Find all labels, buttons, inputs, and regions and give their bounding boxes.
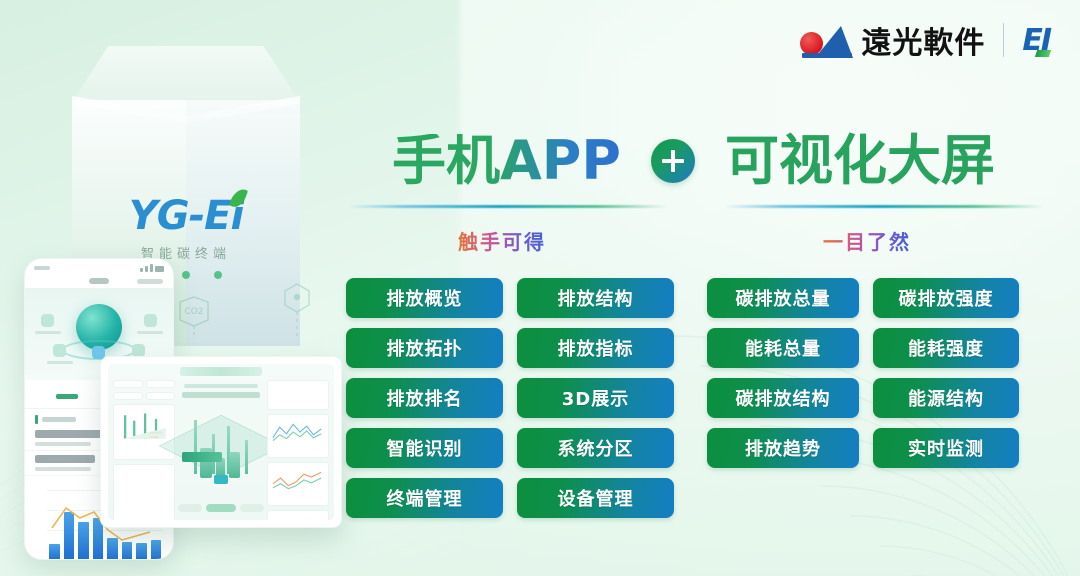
row-2-caption	[35, 467, 91, 471]
wind-turbine-4	[245, 440, 248, 474]
app-feature-button-1[interactable]: 排放概览	[346, 278, 503, 318]
right-kpi-card	[267, 380, 329, 410]
app-feature-button-9[interactable]: 终端管理	[346, 478, 503, 518]
row-1-values	[35, 430, 107, 446]
battery-icon	[155, 266, 164, 272]
status-time	[34, 266, 50, 270]
bar-chart-3	[271, 514, 325, 520]
ygei-logo: YG-Ei	[129, 196, 243, 236]
dot-2	[182, 271, 190, 279]
plus-icon	[651, 139, 695, 183]
dashboard-screen	[108, 364, 334, 520]
screen-feature-button-5[interactable]: 碳排放结构	[707, 378, 859, 418]
location-hex-pin-icon	[282, 282, 312, 342]
isometric-city-graphic	[178, 408, 264, 500]
screen-feature-button-2[interactable]: 碳排放强度	[873, 278, 1019, 318]
app-feature-button-3[interactable]: 排放拓扑	[346, 328, 503, 368]
dashboard-title-bar	[180, 367, 262, 376]
bar-comparison-card	[113, 404, 175, 460]
signal-bar-2	[145, 266, 148, 272]
screen-feature-grid: 碳排放总量碳排放强度能耗总量能耗强度碳排放结构能源结构排放趋势实时监测	[707, 278, 1019, 468]
screen-feature-button-4[interactable]: 能耗强度	[873, 328, 1019, 368]
section-pip	[35, 415, 38, 424]
yuanguang-logo: 遠光軟件	[799, 18, 985, 62]
row-2-values	[35, 455, 95, 471]
row-1-number	[35, 430, 107, 438]
headline-right: 可视化大屏	[725, 134, 995, 188]
app-feature-button-6[interactable]: 3D展示	[517, 378, 674, 418]
slide-canvas: YG-Ei 智能碳终端 CO2	[0, 0, 1080, 576]
kpi-card-1	[113, 380, 143, 388]
tablet-mockup	[100, 356, 342, 528]
row-2-number	[35, 455, 95, 463]
center-metric-label-2	[214, 384, 258, 388]
highlight-block	[214, 475, 228, 484]
hero-icon-2[interactable]	[144, 314, 157, 327]
app-feature-button-7[interactable]: 智能识别	[346, 428, 503, 468]
hero-icon-1[interactable]	[41, 314, 54, 327]
donut-card	[113, 464, 175, 520]
phone-nav-title	[89, 278, 109, 284]
phone-nav-bar	[25, 272, 173, 288]
scene-info-tag	[182, 452, 222, 462]
app-feature-button-8[interactable]: 系统分区	[517, 428, 674, 468]
right-kpi-2	[300, 384, 326, 386]
wind-turbine-1	[194, 420, 197, 474]
right-kpi-row	[271, 384, 325, 386]
headline-row: 手机APP 可视化大屏	[392, 122, 1032, 200]
status-signal-icons	[140, 264, 164, 272]
line-chart-card-2	[267, 462, 329, 506]
line-chart-2	[271, 466, 325, 492]
scene-tab-1[interactable]	[178, 504, 202, 512]
row-1-caption	[35, 442, 91, 446]
hero-label-3	[47, 361, 73, 364]
yuanguang-mark-icon	[799, 22, 853, 58]
app-feature-button-2[interactable]: 排放结构	[517, 278, 674, 318]
app-feature-button-4[interactable]: 排放指标	[517, 328, 674, 368]
logo-base-bar	[802, 53, 852, 58]
svg-text:CO2: CO2	[184, 307, 203, 317]
right-kpi-1	[271, 384, 297, 386]
center-metric-value-2	[212, 392, 260, 398]
headline-left: 手机APP	[392, 134, 621, 188]
dot-3	[214, 271, 222, 279]
ei-logo: EI	[1022, 23, 1050, 58]
phone-tab-1[interactable]	[35, 386, 99, 404]
screen-feature-button-3[interactable]: 能耗总量	[707, 328, 859, 368]
screen-feature-button-7[interactable]: 排放趋势	[707, 428, 859, 468]
cube-face-top	[72, 46, 300, 102]
divider-left	[348, 205, 668, 208]
line-chart-1	[271, 418, 325, 444]
screen-feature-button-1[interactable]: 碳排放总量	[707, 278, 859, 318]
scene-tab-switcher[interactable]	[178, 504, 264, 512]
dashboard-center-scene	[178, 380, 264, 514]
phone-status-bar	[25, 259, 173, 272]
bar-comparison-chart	[117, 408, 171, 448]
hero-label-2	[137, 331, 163, 334]
phone-nav-action[interactable]	[137, 279, 163, 284]
divider-right	[724, 205, 1044, 208]
brand-divider	[1003, 23, 1004, 57]
tab-1-indicator	[56, 394, 78, 399]
bar-chart-card	[267, 510, 329, 520]
hero-label-1	[35, 331, 61, 334]
app-feature-grid: 排放概览排放结构排放拓扑排放指标排放排名3D展示智能识别系统分区终端管理设备管理	[346, 278, 674, 518]
brand-bar: 遠光軟件 EI	[799, 18, 1050, 62]
section-label	[42, 417, 76, 422]
hero-icon-3[interactable]	[53, 344, 66, 357]
kpi-card-4	[146, 392, 176, 400]
scene-tab-2[interactable]	[206, 504, 236, 512]
ygei-logo-text: YG-Ei	[129, 193, 243, 239]
signal-bar-1	[140, 268, 143, 272]
building-3	[229, 452, 240, 478]
company-name: 遠光軟件	[861, 18, 985, 62]
subtitle-left: 触手可得	[458, 226, 546, 255]
app-feature-button-5[interactable]: 排放排名	[346, 378, 503, 418]
line-chart-card-1	[267, 414, 329, 458]
scene-tab-3[interactable]	[240, 504, 264, 512]
app-feature-button-10[interactable]: 设备管理	[517, 478, 674, 518]
subtitle-right: 一目了然	[823, 226, 911, 255]
kpi-row-2	[113, 392, 175, 400]
dashboard-right-column	[267, 380, 329, 514]
ei-green-accent	[1035, 50, 1051, 57]
co2-badge-icon: CO2	[176, 296, 212, 338]
kpi-card-3	[113, 392, 143, 400]
signal-bar-3	[150, 264, 153, 272]
screen-feature-button-6[interactable]: 能源结构	[873, 378, 1019, 418]
kpi-card-2	[146, 380, 176, 388]
screen-feature-button-8[interactable]: 实时监测	[873, 428, 1019, 468]
kpi-row-1	[113, 380, 175, 388]
